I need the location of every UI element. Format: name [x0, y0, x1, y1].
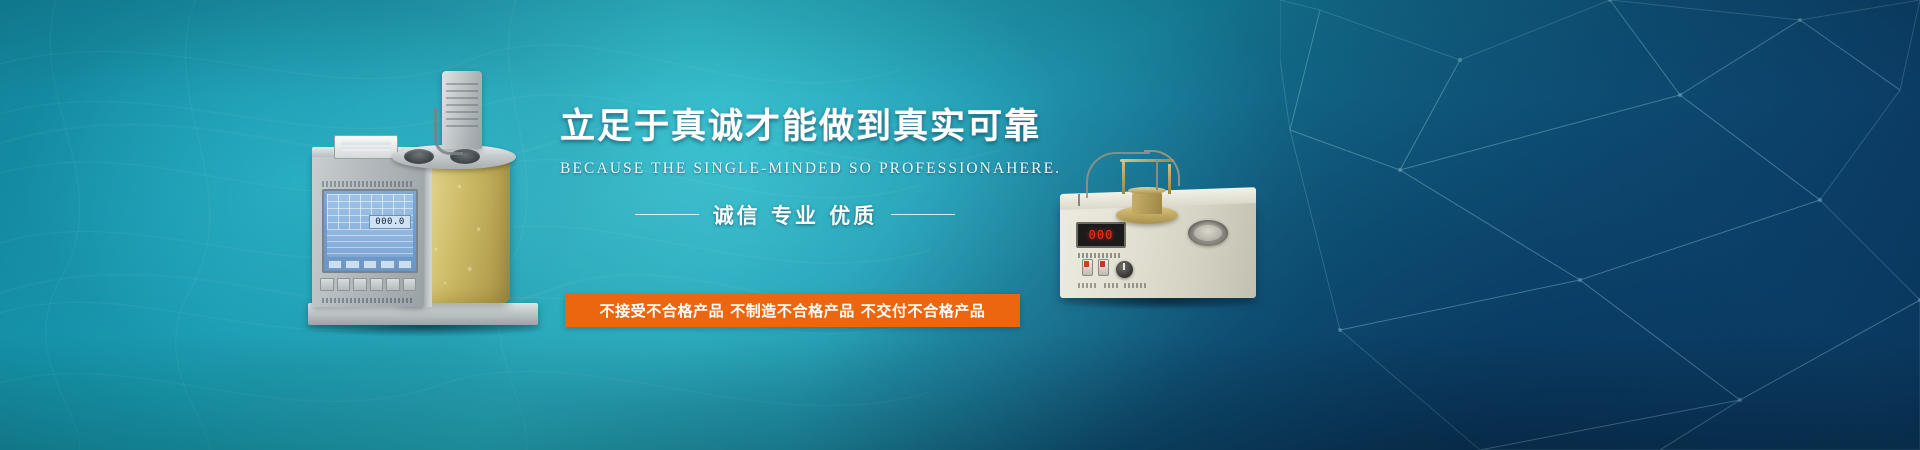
digital-display: 000 [1076, 222, 1126, 248]
banner-copy: 立足于真诚才能做到真实可靠 BECAUSE THE SINGLE-MINDED … [560, 108, 1030, 230]
printer-slot [334, 135, 398, 159]
quality-slogan-text: 不接受不合格产品 不制造不合格产品 不交付不合格产品 [599, 300, 985, 321]
rule-right [891, 214, 955, 215]
quality-slogan-bar: 不接受不合格产品 不制造不合格产品 不交付不合格产品 [565, 294, 1020, 327]
rule-left [635, 214, 699, 215]
viscometer-image: 000.0 [300, 55, 545, 325]
knob-label [1124, 283, 1146, 288]
manufacturer-label [322, 298, 414, 303]
banner-headline: 立足于真诚才能做到真实可靠 [560, 108, 1030, 147]
flash-point-tester-image: 000 [1060, 118, 1260, 298]
keypad [320, 278, 416, 291]
promo-banner: 000.0 000 [0, 0, 1920, 450]
screen-buttons [328, 260, 412, 269]
display-reading: 000 [1089, 228, 1114, 242]
tagline-row: 诚信 专业 优质 [560, 200, 1030, 230]
tagline-text: 诚信 专业 优质 [713, 200, 878, 230]
heater-switch [1098, 259, 1109, 276]
secondary-arm-arc [1144, 150, 1180, 186]
capillary-tube [434, 108, 463, 155]
control-knob [1116, 261, 1133, 278]
display-label [1078, 253, 1122, 258]
screen-rows [327, 229, 413, 257]
switch-label-2 [1104, 283, 1118, 288]
power-switch [1082, 259, 1093, 276]
ignition-arm-arc [1086, 152, 1150, 198]
sample-cup-well [1188, 220, 1228, 246]
banner-subheadline: BECAUSE THE SINGLE-MINDED SO PROFESSIONA… [560, 160, 1030, 178]
switch-label-1 [1078, 283, 1098, 288]
model-nameplate [322, 181, 414, 187]
polygon-mesh-decoration [1280, 0, 1920, 450]
screen-reading: 000.0 [369, 215, 411, 229]
gas-wire [1078, 194, 1080, 206]
tube-port-left [404, 149, 434, 164]
control-screen: 000.0 [322, 189, 418, 273]
